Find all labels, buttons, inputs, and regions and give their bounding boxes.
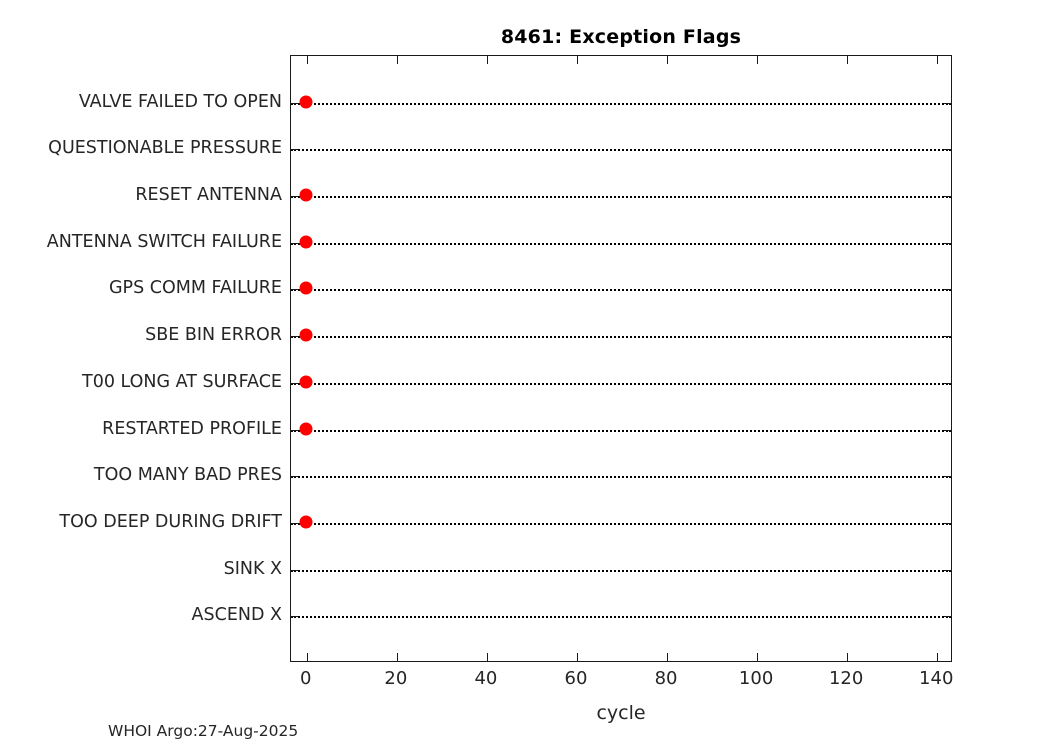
y-axis-tick [291, 103, 298, 104]
y-axis-tick-label: TOO DEEP DURING DRIFT [59, 512, 282, 532]
x-axis-tick [937, 653, 938, 661]
y-axis-tick-label: TOO MANY BAD PRES [94, 465, 282, 485]
y-axis-tick [291, 570, 298, 571]
data-point-marker [299, 422, 312, 435]
gridline-row [291, 289, 951, 291]
data-point-marker [299, 375, 312, 388]
chart-figure: 8461: Exception Flags VALVE FAILED TO OP… [0, 0, 1050, 750]
y-axis-tick [291, 243, 298, 244]
y-axis-tick-label: GPS COMM FAILURE [109, 278, 282, 298]
y-axis-tick [944, 523, 951, 524]
x-axis-tick [667, 56, 668, 64]
y-axis-tick [944, 289, 951, 290]
x-axis-tick [667, 653, 668, 661]
gridline-row [291, 523, 951, 525]
gridline-row [291, 430, 951, 432]
y-axis-tick-label: ANTENNA SWITCH FAILURE [47, 232, 282, 252]
x-axis-tick [577, 56, 578, 64]
y-axis-tick-label: RESET ANTENNA [135, 185, 282, 205]
y-axis-tick [944, 103, 951, 104]
x-axis-tick-label: 120 [829, 668, 863, 689]
data-point-marker [299, 235, 312, 248]
y-axis-tick [944, 476, 951, 477]
data-point-marker [299, 329, 312, 342]
x-axis-tick [397, 56, 398, 64]
x-axis-tick [307, 56, 308, 64]
y-axis-tick [944, 196, 951, 197]
y-axis-tick [291, 149, 298, 150]
y-axis-tick [944, 383, 951, 384]
x-axis-tick [307, 653, 308, 661]
x-axis-tick [577, 653, 578, 661]
y-axis-tick [291, 430, 298, 431]
y-axis-tick-label: VALVE FAILED TO OPEN [79, 92, 282, 112]
chart-title: 8461: Exception Flags [290, 26, 952, 48]
y-axis-tick [944, 616, 951, 617]
y-axis-tick [291, 616, 298, 617]
data-point-marker [299, 95, 312, 108]
x-axis-tick [937, 56, 938, 64]
plot-area [290, 55, 952, 662]
x-axis-title: cycle [290, 702, 952, 724]
y-axis-tick [291, 476, 298, 477]
y-axis-tick-label: ASCEND X [192, 605, 282, 625]
x-axis-tick [487, 56, 488, 64]
gridline-row [291, 570, 951, 572]
gridline-row [291, 196, 951, 198]
x-axis-tick [757, 56, 758, 64]
gridline-row [291, 149, 951, 151]
gridline-row [291, 383, 951, 385]
y-axis-tick [291, 289, 298, 290]
x-axis-tick [757, 653, 758, 661]
y-axis-tick [291, 196, 298, 197]
x-axis-tick [397, 653, 398, 661]
x-axis-tick-label: 0 [300, 668, 311, 689]
y-axis-tick-label: SBE BIN ERROR [145, 325, 282, 345]
gridline-row [291, 103, 951, 105]
x-axis-tick [847, 653, 848, 661]
x-axis-tick-label: 60 [565, 668, 588, 689]
y-axis-tick [944, 570, 951, 571]
y-axis-tick [944, 149, 951, 150]
y-axis-tick [291, 523, 298, 524]
y-axis-tick [291, 383, 298, 384]
y-axis-tick [944, 243, 951, 244]
x-axis-tick-label: 100 [739, 668, 773, 689]
y-axis-tick-label: T00 LONG AT SURFACE [82, 372, 282, 392]
x-axis-tick-label: 140 [919, 668, 953, 689]
footer-credit: WHOI Argo:27-Aug-2025 [108, 722, 298, 740]
x-axis-tick-label: 20 [384, 668, 407, 689]
x-axis-tick-label: 80 [655, 668, 678, 689]
y-axis-tick-label: QUESTIONABLE PRESSURE [48, 138, 282, 158]
x-axis-tick-label: 40 [474, 668, 497, 689]
gridline-row [291, 336, 951, 338]
data-point-marker [299, 515, 312, 528]
y-axis-tick [944, 430, 951, 431]
y-axis-tick [291, 336, 298, 337]
x-axis-tick [847, 56, 848, 64]
y-axis-tick-label: SINK X [224, 559, 282, 579]
gridline-row [291, 476, 951, 478]
y-axis-tick-label: RESTARTED PROFILE [102, 419, 282, 439]
gridline-row [291, 243, 951, 245]
x-axis-tick [487, 653, 488, 661]
data-point-marker [299, 189, 312, 202]
y-axis-tick [944, 336, 951, 337]
data-point-marker [299, 282, 312, 295]
gridline-row [291, 616, 951, 618]
